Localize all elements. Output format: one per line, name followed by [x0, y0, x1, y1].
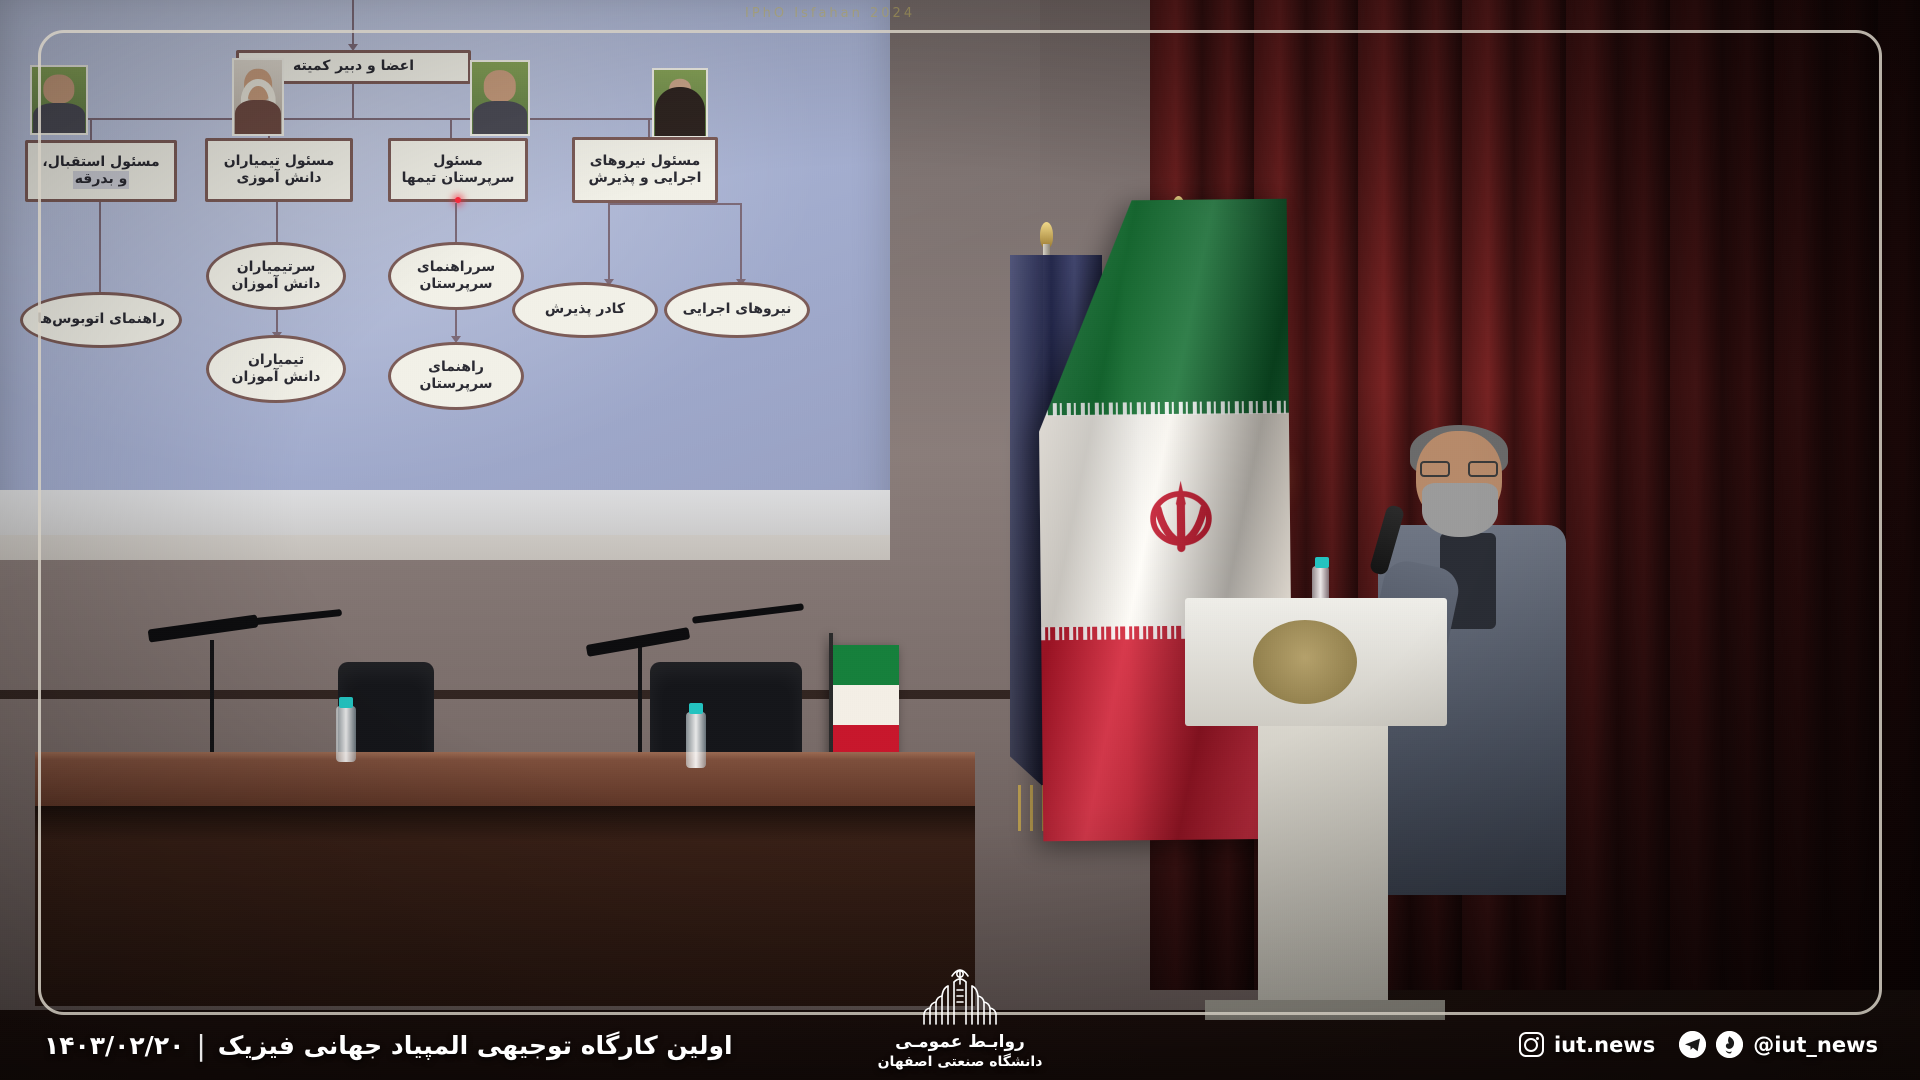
messenger-handle[interactable]: @iut_news [1753, 1033, 1878, 1057]
org-node-guides-line1: راهنمای [428, 359, 484, 377]
water-bottle-left [336, 706, 356, 762]
org-node-exec-admission-line1: مسئول نیروهای [590, 153, 701, 171]
instagram-handle[interactable]: iut.news [1554, 1033, 1655, 1057]
org-node-head-teammate-line1: سرتیمیاران [237, 259, 316, 277]
org-node-reception-line2: و بدرقه [73, 171, 130, 189]
bale-icon[interactable] [1716, 1031, 1743, 1058]
instagram-icon[interactable] [1519, 1032, 1544, 1057]
org-node-bus-guide-label: راهنمای اتوبوس‌ها [37, 311, 165, 329]
link-chair-members [352, 0, 354, 46]
logo-line-2: دانشگاه صنعتی اصفهان [845, 1054, 1075, 1070]
org-node-teammates-line1: تیمیاران [248, 352, 304, 370]
link-student-head [276, 202, 278, 244]
event-title: اولین کارگاه توجیهی المپیاد جهانی فیزیک [218, 1031, 733, 1060]
link-members-bus [352, 84, 354, 118]
caption-left: اولین کارگاه توجیهی المپیاد جهانی فیزیک … [44, 1029, 733, 1062]
org-node-guides-line2: سرپرستان [419, 376, 492, 394]
desk-flag [833, 645, 899, 765]
link-exec-branch [608, 203, 742, 205]
link-exec-admisstaff [608, 203, 610, 281]
org-node-team-leaders: مسئول سرپرستان تیمها [388, 138, 528, 202]
logo-line-1: روابـط عمومـی [845, 1032, 1075, 1052]
event-photograph: رئیس کمیته میزبانی اعضا و دبیر کمیته [0, 0, 1920, 1080]
podium-column [1258, 726, 1388, 1016]
link-guides [455, 310, 457, 338]
screen-lower-band [0, 490, 890, 560]
curtain-dark-edge [1560, 0, 1920, 990]
org-node-head-teammate: سرتیمیاران دانش آموزان [206, 242, 346, 310]
water-bottle-right [686, 712, 706, 768]
link-reception-bus [99, 202, 101, 294]
event-date: ۱۴۰۳/۰۲/۲۰ [44, 1031, 184, 1060]
org-node-teammates-line2: دانش آموزان [232, 369, 321, 387]
photo-student-team-officer [232, 58, 284, 136]
org-node-student-team-line1: مسئول تیمیاران [224, 153, 335, 171]
caption-separator: | [196, 1029, 205, 1062]
projection-screen: رئیس کمیته میزبانی اعضا و دبیر کمیته [0, 0, 890, 535]
public-relations-logo: روابـط عمومـی دانشگاه صنعتی اصفهان [845, 966, 1075, 1070]
link-exec-staff [740, 203, 742, 281]
org-node-exec-staff: نیروهای اجرایی [664, 282, 810, 338]
mic-stand-left [210, 640, 214, 770]
org-node-exec-admission-line2: اجرایی و پذیرش [589, 170, 702, 188]
caption-bar: اولین کارگاه توجیهی المپیاد جهانی فیزیک … [0, 1008, 1920, 1080]
mic-stand-right [638, 640, 642, 770]
link-teammates [276, 310, 278, 334]
org-node-exec-admission: مسئول نیروهای اجرایی و پذیرش [572, 137, 718, 203]
org-node-guides: راهنمای سرپرستان [388, 342, 524, 410]
org-node-head-guide-line1: سرراهنمای [417, 259, 495, 277]
org-node-student-team-line2: دانش آموزی [236, 170, 321, 188]
org-chart: رئیس کمیته میزبانی اعضا و دبیر کمیته [0, 0, 890, 535]
org-node-head-guide-line2: سرپرستان [419, 276, 492, 294]
org-node-teammates: تیمیاران دانش آموزان [206, 335, 346, 403]
org-node-reception: مسئول استقبال، و بدرقه [25, 140, 177, 202]
photo-reception-officer [30, 65, 88, 135]
link-leaders-headguide [455, 203, 457, 245]
org-node-team-leaders-line1: مسئول [433, 153, 483, 171]
podium-emblem [1253, 620, 1357, 704]
org-node-admission-staff-label: کادر پذیرش [545, 301, 625, 319]
org-bus-line [75, 118, 655, 120]
org-node-head-teammate-line2: دانش آموزان [232, 276, 321, 294]
org-node-exec-staff-label: نیروهای اجرایی [683, 301, 792, 319]
photo-team-leaders-officer [470, 60, 530, 136]
photo-card: رئیس کمیته میزبانی اعضا و دبیر کمیته [0, 0, 1920, 1080]
org-node-head-guide: سرراهنمای سرپرستان [388, 242, 524, 310]
org-node-bus-guide: راهنمای اتوبوس‌ها [20, 292, 182, 348]
telegram-icon[interactable] [1679, 1031, 1706, 1058]
iut-arch-logo-icon [904, 966, 1016, 1028]
photo-exec-admis-officer [652, 68, 708, 138]
panel-table [35, 760, 975, 808]
org-node-team-leaders-line2: سرپرستان تیمها [402, 170, 515, 188]
org-node-student-team: مسئول تیمیاران دانش آموزی [205, 138, 353, 202]
slide-banner-note: IPhO Isfahan 2024 [745, 6, 915, 21]
caption-social: iut.news @iut_news [1519, 1031, 1878, 1058]
iran-flag [1037, 199, 1294, 842]
org-node-admission-staff: کادر پذیرش [512, 282, 658, 338]
table-shadow [35, 806, 975, 842]
org-node-reception-line1: مسئول استقبال، [42, 154, 159, 172]
org-node-members-label: اعضا و دبیر کمیته [293, 58, 414, 76]
